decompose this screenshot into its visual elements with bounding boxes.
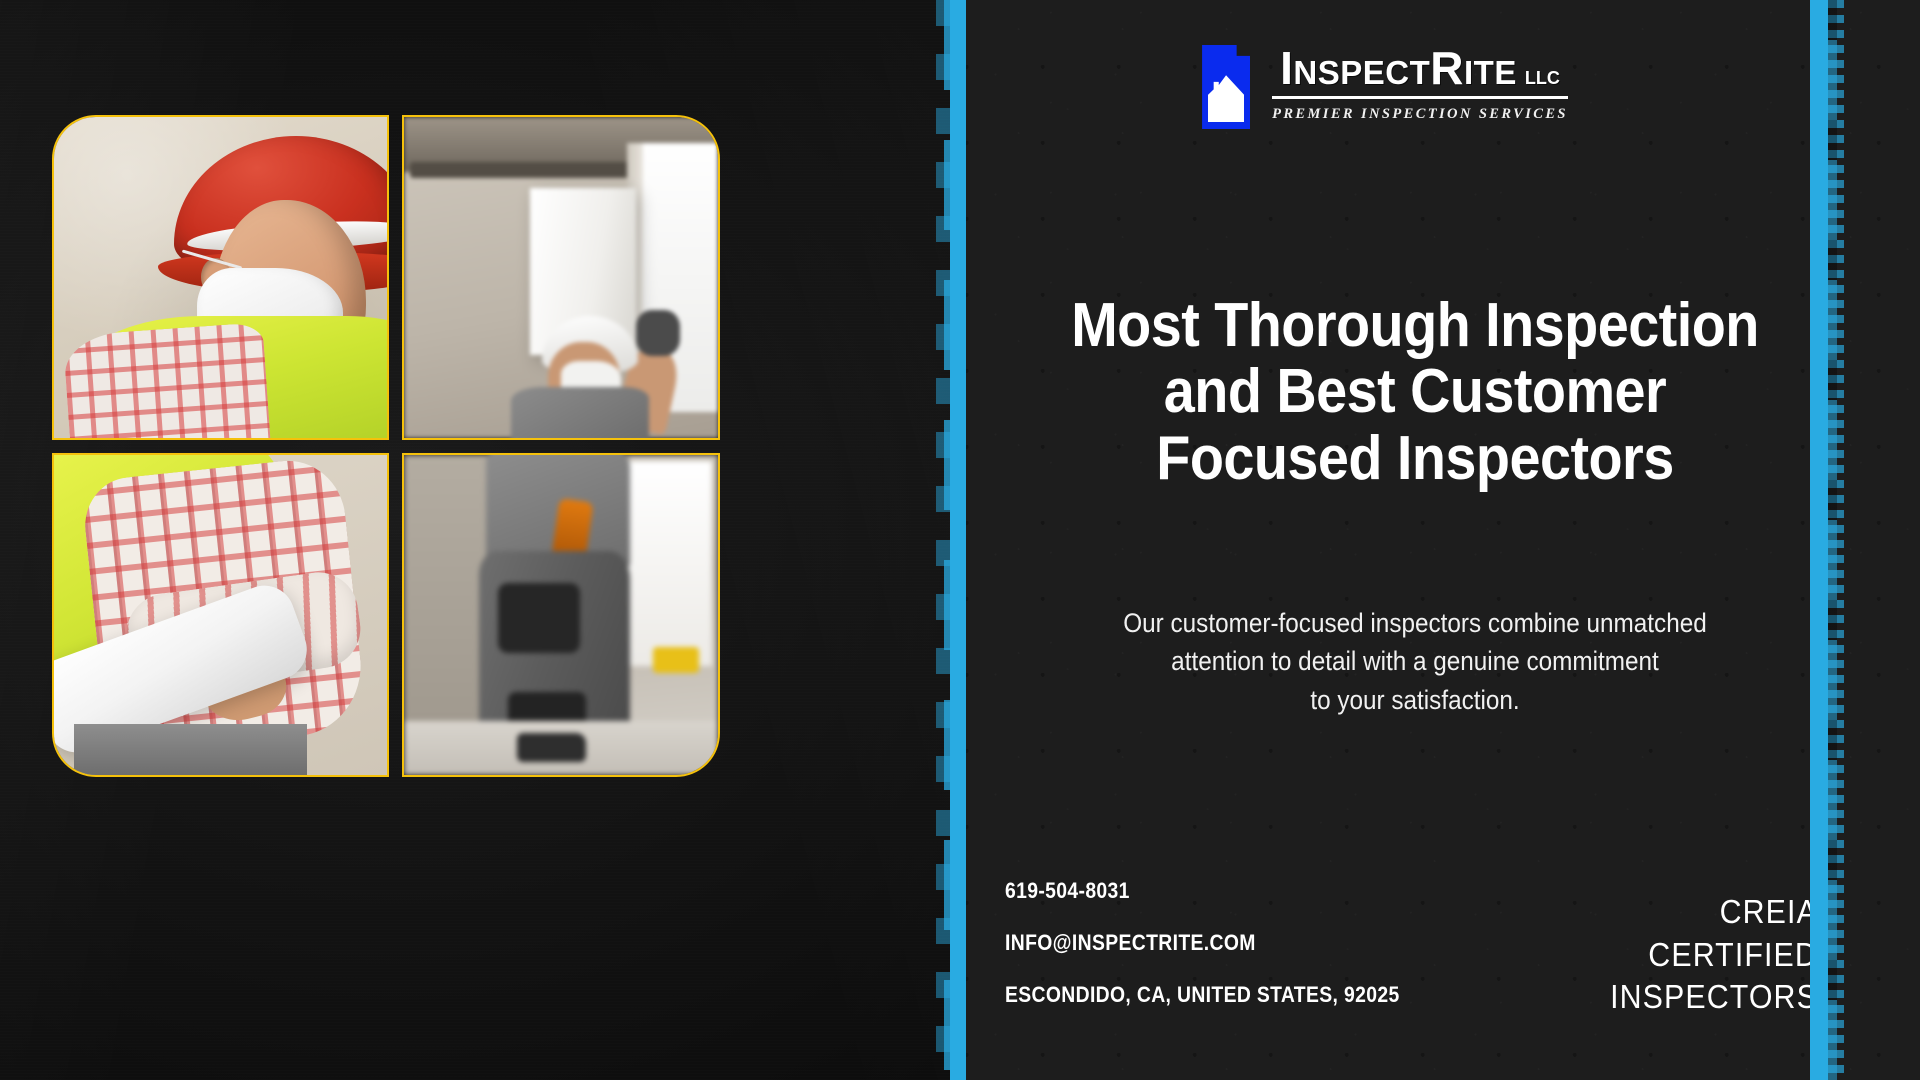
- brand-underline: [1272, 96, 1568, 99]
- certification-line-3: INSPECTORS: [1610, 976, 1818, 1018]
- photo-collage-panel: [0, 0, 950, 1080]
- certification-line-1: CREIA: [1610, 891, 1818, 933]
- brand-name-nspect: NSPECT: [1293, 56, 1430, 89]
- accent-stripe-right: [1810, 0, 1828, 1080]
- certification-line-2: CERTIFIED: [1610, 934, 1818, 976]
- brand-name-r: R: [1430, 45, 1464, 91]
- brand-name-i: I: [1280, 45, 1293, 91]
- brand-suffix: LLC: [1525, 69, 1560, 87]
- headline-line-3: Focused Inspectors: [1051, 426, 1780, 492]
- certification-block: CREIA CERTIFIED INSPECTORS: [1610, 891, 1818, 1018]
- brand-wordmark: INSPECTRITELLC PREMIER INSPECTION SERVIC…: [1272, 45, 1568, 123]
- contact-phone[interactable]: 619-504-8031: [1005, 878, 1400, 904]
- contact-email[interactable]: INFO@INSPECTRITE.COM: [1005, 930, 1400, 956]
- brand-name: INSPECTRITELLC: [1280, 45, 1560, 91]
- headline-line-2: and Best Customer: [1051, 359, 1780, 425]
- subtext: Our customer-focused inspectors combine …: [1051, 604, 1780, 719]
- promotional-banner: INSPECTRITELLC PREMIER INSPECTION SERVIC…: [0, 0, 1920, 1080]
- house-in-blue-badge-icon: [1202, 45, 1250, 129]
- brand-logo: INSPECTRITELLC PREMIER INSPECTION SERVIC…: [950, 45, 1820, 129]
- headline-line-1: Most Thorough Inspection: [1051, 293, 1780, 359]
- gallery-photo-2: [402, 115, 720, 440]
- headline: Most Thorough Inspection and Best Custom…: [1051, 293, 1780, 492]
- subtext-line-2: attention to detail with a genuine commi…: [1051, 642, 1780, 680]
- gallery-photo-1: [52, 115, 389, 440]
- subtext-line-3: to your satisfaction.: [1051, 681, 1780, 719]
- subtext-line-1: Our customer-focused inspectors combine …: [1051, 604, 1780, 642]
- gallery-photo-3: [52, 453, 389, 777]
- brand-tagline: PREMIER INSPECTION SERVICES: [1272, 106, 1568, 123]
- gallery-photo-4: [402, 453, 720, 777]
- brand-name-ite: ITE: [1464, 56, 1517, 89]
- accent-stripe-left: [950, 0, 966, 1080]
- photo-collage-grid: [52, 115, 720, 777]
- contact-address: ESCONDIDO, CA, UNITED STATES, 92025: [1005, 982, 1400, 1008]
- house-icon: [1208, 75, 1244, 122]
- contact-block: 619-504-8031 INFO@INSPECTRITE.COM ESCOND…: [1005, 878, 1453, 1008]
